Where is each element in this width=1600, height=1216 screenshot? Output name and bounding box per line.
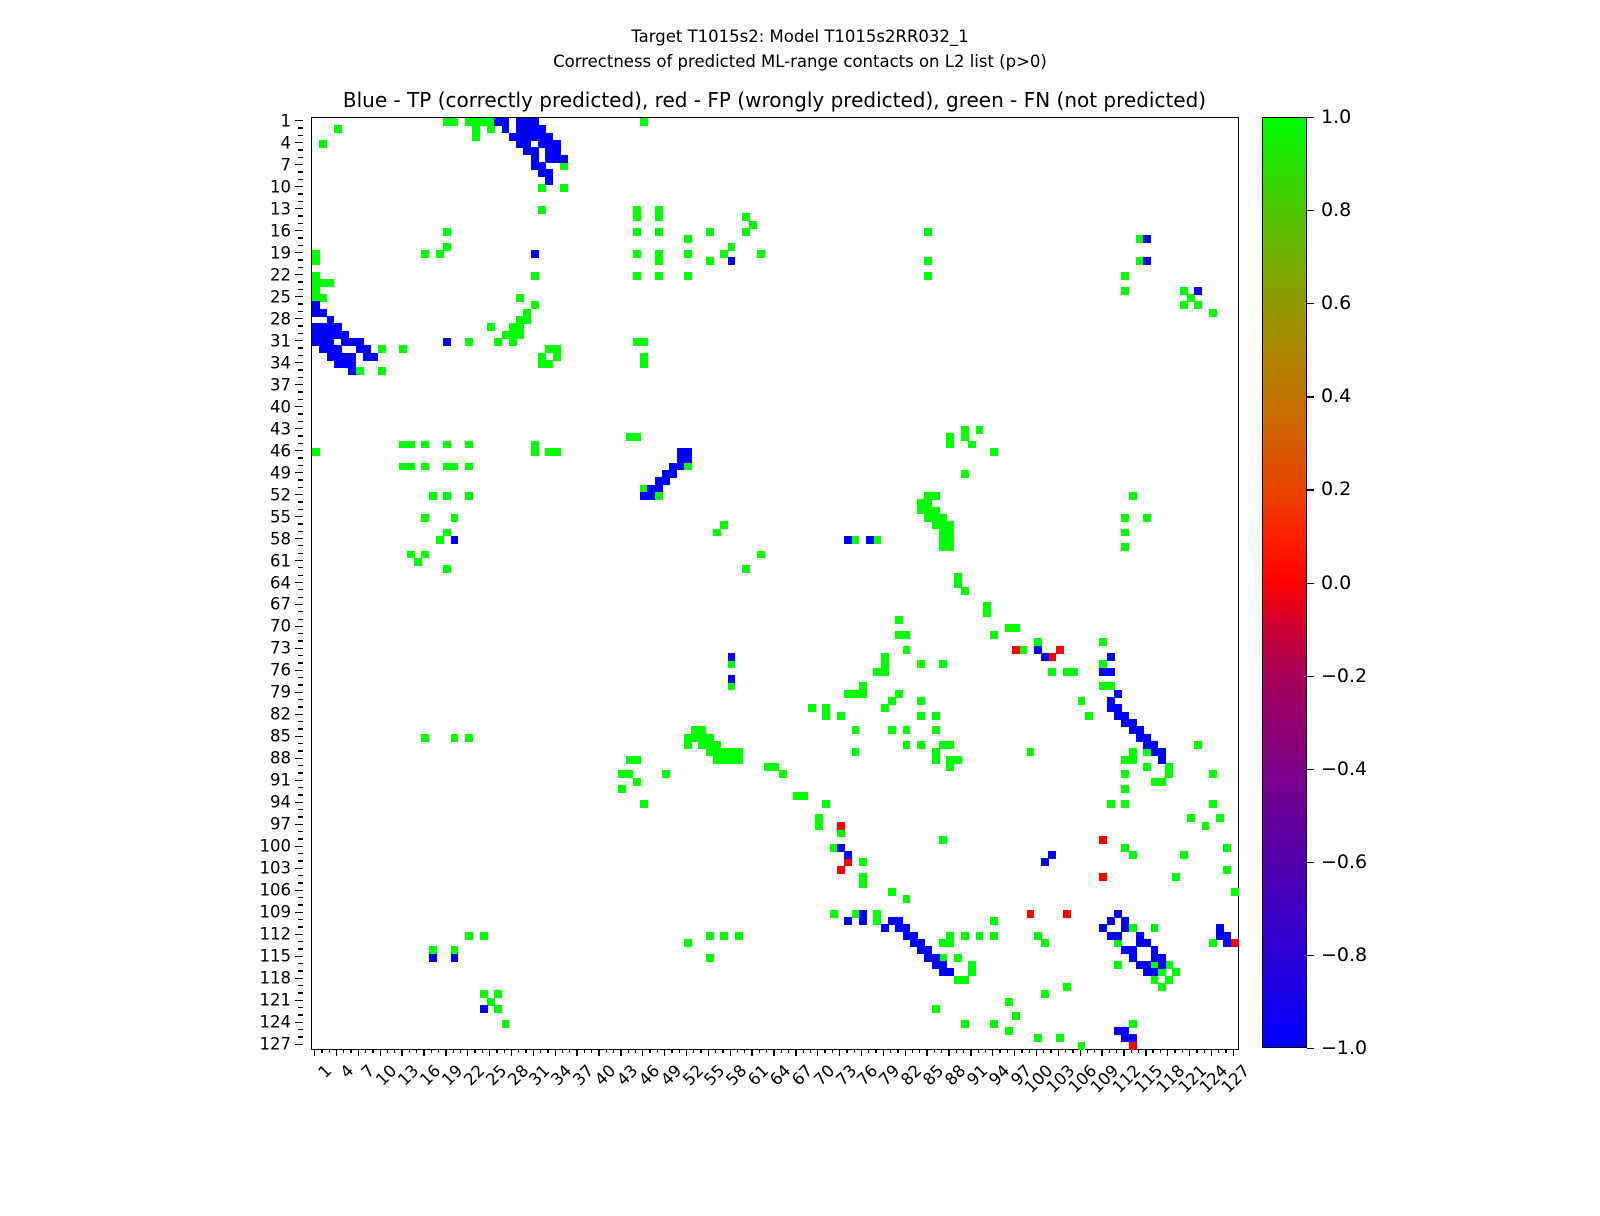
- y-tick: [295, 912, 303, 913]
- y-tick: [298, 1007, 303, 1008]
- y-tick-label: 52: [270, 485, 291, 504]
- y-tick-label: 76: [270, 661, 291, 680]
- contact-cell-fn: [1012, 1012, 1020, 1020]
- y-tick: [295, 626, 303, 627]
- y-tick-label: 43: [270, 419, 291, 438]
- contact-cell-fn: [1070, 668, 1078, 676]
- contact-cell-fn: [1187, 814, 1195, 822]
- contact-cell-fn: [895, 616, 903, 624]
- y-tick-label: 10: [270, 177, 291, 196]
- colorbar-tick-label: 0.4: [1321, 385, 1351, 407]
- contact-cell-fn: [465, 734, 473, 742]
- y-tick: [295, 890, 303, 891]
- contact-cell-fn: [757, 250, 765, 258]
- contact-cell-fn: [932, 712, 940, 720]
- y-tick-label: 34: [270, 353, 291, 372]
- contact-cell-fn: [706, 932, 714, 940]
- contact-cell-fn: [1012, 624, 1020, 632]
- y-tick: [298, 619, 303, 620]
- contact-cell-fn: [531, 448, 539, 456]
- contact-cell-fn: [939, 741, 947, 749]
- contact-map-cells: [312, 118, 1238, 1049]
- colorbar-tick: [1307, 676, 1314, 677]
- contact-cell-fn: [538, 206, 546, 214]
- contact-cell-fn: [465, 338, 473, 346]
- y-tick: [295, 1022, 303, 1023]
- y-tick: [298, 919, 303, 920]
- y-tick-label: 25: [270, 287, 291, 306]
- y-tick-label: 103: [260, 859, 292, 878]
- contact-cell-tp: [859, 917, 867, 925]
- y-tick: [298, 179, 303, 180]
- contact-cell-fn: [443, 441, 451, 449]
- y-tick: [298, 611, 303, 612]
- contact-cell-fn: [859, 858, 867, 866]
- contact-cell-fn: [1121, 756, 1129, 764]
- colorbar-tick-label: −0.6: [1321, 851, 1367, 873]
- y-tick-label: 49: [270, 463, 291, 482]
- contact-cell-fn: [1129, 1020, 1137, 1028]
- y-tick: [298, 333, 303, 334]
- y-tick: [298, 259, 303, 260]
- y-tick: [295, 142, 303, 143]
- contact-cell-fn: [713, 529, 721, 537]
- contact-cell-fn: [655, 213, 663, 221]
- contact-cell-fn: [684, 741, 692, 749]
- contact-cell-fn: [961, 1020, 969, 1028]
- colorbar-tick: [1307, 769, 1314, 770]
- contact-cell-fn: [757, 551, 765, 559]
- contact-cell-fn: [560, 184, 568, 192]
- y-tick: [298, 728, 303, 729]
- y-tick-label: 64: [270, 573, 291, 592]
- contact-cell-fn: [815, 822, 823, 830]
- contact-cell-tp: [1107, 697, 1115, 705]
- y-tick-label: 94: [270, 793, 291, 812]
- colorbar-tick: [1307, 955, 1314, 956]
- y-tick: [298, 794, 303, 795]
- y-tick: [298, 860, 303, 861]
- y-tick: [298, 831, 303, 832]
- contact-cell-fn: [1048, 668, 1056, 676]
- contact-cell-tp: [844, 917, 852, 925]
- contact-cell-fn: [633, 228, 641, 236]
- contact-cell-fn: [399, 345, 407, 353]
- y-tick: [295, 450, 303, 451]
- contact-cell-tp: [1158, 756, 1166, 764]
- contact-cell-fn: [1194, 741, 1202, 749]
- y-tick: [298, 904, 303, 905]
- contact-cell-fn: [684, 250, 692, 258]
- y-tick: [295, 472, 303, 473]
- y-tick: [298, 303, 303, 304]
- contact-cell-fn: [1121, 529, 1129, 537]
- contact-cell-fn: [655, 272, 663, 280]
- contact-cell-fp: [1099, 836, 1107, 844]
- y-tick-label: 40: [270, 397, 291, 416]
- contact-cell-fn: [961, 470, 969, 478]
- contact-cell-tp: [1121, 924, 1129, 932]
- contact-cell-fn: [881, 668, 889, 676]
- y-tick: [295, 604, 303, 605]
- contact-cell-fn: [1056, 1034, 1064, 1042]
- y-tick: [298, 281, 303, 282]
- contact-cell-fn: [451, 734, 459, 742]
- y-tick: [298, 479, 303, 480]
- contact-cell-fn: [1165, 770, 1173, 778]
- contact-cell-tp: [1158, 961, 1166, 969]
- y-tick: [298, 1014, 303, 1015]
- contact-cell-fn: [924, 257, 932, 265]
- y-tick: [298, 171, 303, 172]
- contact-cell-fn: [903, 895, 911, 903]
- contact-cell-tp: [1099, 924, 1107, 932]
- contact-cell-fn: [633, 756, 641, 764]
- colorbar-tick-label: −0.4: [1321, 758, 1367, 780]
- contact-cell-fn: [932, 492, 940, 500]
- contact-cell-tp: [1216, 932, 1224, 940]
- y-tick: [298, 545, 303, 546]
- y-tick: [298, 684, 303, 685]
- y-tick-label: 121: [260, 991, 292, 1010]
- contact-cell-fn: [830, 910, 838, 918]
- y-tick-label: 13: [270, 199, 291, 218]
- y-tick: [295, 1000, 303, 1001]
- y-tick: [298, 809, 303, 810]
- y-tick: [295, 296, 303, 297]
- y-tick: [295, 560, 303, 561]
- contact-cell-fn: [516, 331, 524, 339]
- contact-cell-fn: [1194, 301, 1202, 309]
- contact-cell-fn: [684, 939, 692, 947]
- contact-cell-fn: [1209, 770, 1217, 778]
- contact-cell-fn: [1143, 514, 1151, 522]
- y-tick: [298, 413, 303, 414]
- contact-cell-tp: [443, 338, 451, 346]
- colorbar-gradient: [1262, 117, 1307, 1048]
- contact-cell-fn: [1041, 939, 1049, 947]
- contact-cell-tp: [1041, 858, 1049, 866]
- y-tick: [298, 699, 303, 700]
- contact-cell-fn: [728, 660, 736, 668]
- y-tick: [298, 765, 303, 766]
- y-tick: [295, 758, 303, 759]
- y-tick-label: 85: [270, 727, 291, 746]
- y-tick: [298, 391, 303, 392]
- contact-cell-fn: [888, 888, 896, 896]
- contact-cell-fn: [414, 558, 422, 566]
- contact-cell-fn: [1027, 748, 1035, 756]
- contact-cell-fp: [1063, 910, 1071, 918]
- y-tick: [295, 252, 303, 253]
- contact-cell-tp: [844, 536, 852, 544]
- contact-cell-fn: [961, 587, 969, 595]
- contact-cell-fn: [742, 228, 750, 236]
- contact-cell-fn: [312, 257, 320, 265]
- y-tick: [298, 743, 303, 744]
- contact-cell-tp: [1107, 668, 1115, 676]
- contact-cell-fn: [1158, 778, 1166, 786]
- contact-cell-tp: [881, 924, 889, 932]
- contact-cell-fn: [655, 257, 663, 265]
- contact-cell-fn: [407, 463, 415, 471]
- contact-cell-fn: [837, 829, 845, 837]
- y-tick: [295, 868, 303, 869]
- contact-cell-fn: [946, 741, 954, 749]
- y-tick-label: 118: [260, 969, 292, 988]
- contact-cell-fn: [327, 279, 335, 287]
- colorbar-tick-label: −1.0: [1321, 1037, 1367, 1059]
- contact-cell-fn: [640, 360, 648, 368]
- contact-cell-tp: [684, 455, 692, 463]
- y-tick: [295, 208, 303, 209]
- contact-cell-fn: [924, 272, 932, 280]
- contact-cell-fn: [859, 873, 867, 881]
- contact-cell-fn: [990, 932, 998, 940]
- contact-cell-fn: [509, 338, 517, 346]
- contact-cell-fn: [961, 976, 969, 984]
- y-tick-label: 97: [270, 815, 291, 834]
- y-tick: [298, 750, 303, 751]
- contact-cell-fn: [946, 543, 954, 551]
- contact-cell-fp: [1012, 646, 1020, 654]
- contact-cell-fn: [1129, 851, 1137, 859]
- colorbar-tick: [1307, 210, 1314, 211]
- y-tick: [298, 193, 303, 194]
- y-tick: [295, 846, 303, 847]
- contact-cell-fn: [560, 162, 568, 170]
- contact-cell-fn: [1121, 770, 1129, 778]
- contact-cell-fn: [334, 125, 342, 133]
- contact-cell-tp: [531, 250, 539, 258]
- contact-cell-fn: [494, 990, 502, 998]
- contact-cell-fn: [312, 448, 320, 456]
- y-tick: [295, 802, 303, 803]
- contact-cell-fn: [553, 353, 561, 361]
- contact-cell-tp: [1048, 851, 1056, 859]
- y-tick: [295, 714, 303, 715]
- y-tick: [298, 655, 303, 656]
- contact-cell-fn: [939, 836, 947, 844]
- contact-cell-tp: [545, 177, 553, 185]
- contact-cell-fn: [1121, 287, 1129, 295]
- contact-cell-fn: [472, 133, 480, 141]
- contact-cell-fn: [801, 792, 809, 800]
- y-tick: [298, 575, 303, 576]
- contact-cell-fn: [932, 748, 940, 756]
- contact-cell-fn: [655, 492, 663, 500]
- contact-cell-fn: [1172, 873, 1180, 881]
- contact-cell-fn: [421, 551, 429, 559]
- contact-map-plot[interactable]: [311, 117, 1239, 1050]
- colorbar-tick: [1307, 396, 1314, 397]
- y-tick: [298, 787, 303, 788]
- contact-cell-tp: [1129, 1034, 1137, 1042]
- contact-cell-tp: [888, 917, 896, 925]
- contact-cell-fn: [749, 221, 757, 229]
- y-tick: [298, 853, 303, 854]
- y-tick: [295, 230, 303, 231]
- contact-cell-tp: [728, 257, 736, 265]
- contact-cell-fn: [1078, 1042, 1086, 1050]
- y-tick: [298, 662, 303, 663]
- contact-cell-fn: [407, 441, 415, 449]
- y-tick: [298, 941, 303, 942]
- contact-cell-fn: [633, 213, 641, 221]
- contact-cell-fn: [1019, 646, 1027, 654]
- contact-cell-fn: [1216, 814, 1224, 822]
- contact-cell-fn: [837, 712, 845, 720]
- contact-cell-fn: [640, 118, 648, 126]
- y-tick: [298, 589, 303, 590]
- contact-cell-fp: [1231, 939, 1239, 947]
- contact-cell-tp: [1129, 946, 1137, 954]
- contact-cell-fn: [545, 360, 553, 368]
- contact-cell-fn: [917, 712, 925, 720]
- contact-cell-fn: [640, 800, 648, 808]
- contact-cell-fn: [895, 690, 903, 698]
- y-tick-label: 127: [260, 1035, 292, 1054]
- contact-cell-fn: [1209, 800, 1217, 808]
- y-tick: [298, 677, 303, 678]
- y-tick: [298, 435, 303, 436]
- contact-cell-fn: [633, 778, 641, 786]
- contact-cell-fn: [1063, 983, 1071, 991]
- y-tick: [298, 875, 303, 876]
- y-tick: [295, 516, 303, 517]
- y-tick: [298, 399, 303, 400]
- y-tick: [298, 597, 303, 598]
- contact-cell-fn: [633, 433, 641, 441]
- y-tick: [298, 457, 303, 458]
- y-tick-label: 91: [270, 771, 291, 790]
- contact-cell-tp: [1194, 287, 1202, 295]
- contact-cell-fp: [837, 822, 845, 830]
- contact-cell-fn: [436, 536, 444, 544]
- contact-cell-tp: [1114, 690, 1122, 698]
- contact-cell-fn: [407, 551, 415, 559]
- contact-cell-fn: [465, 463, 473, 471]
- contact-cell-fn: [939, 660, 947, 668]
- y-tick-label: 106: [260, 881, 292, 900]
- colorbar-tick: [1307, 117, 1314, 118]
- contact-cell-fn: [1121, 514, 1129, 522]
- contact-cell-fn: [735, 756, 743, 764]
- y-tick: [298, 347, 303, 348]
- contact-cell-fn: [1085, 712, 1093, 720]
- y-tick: [295, 428, 303, 429]
- contact-cell-fn: [881, 704, 889, 712]
- colorbar-tick: [1307, 303, 1314, 304]
- y-tick-label: 67: [270, 595, 291, 614]
- contact-cell-fn: [932, 1005, 940, 1013]
- contact-cell-fn: [494, 1005, 502, 1013]
- contact-cell-fn: [990, 631, 998, 639]
- contact-cell-fn: [1231, 888, 1239, 896]
- contact-cell-fn: [633, 250, 641, 258]
- contact-cell-tp: [1114, 910, 1122, 918]
- y-tick: [295, 494, 303, 495]
- contact-cell-fn: [990, 917, 998, 925]
- contact-cell-fn: [1172, 968, 1180, 976]
- y-tick: [298, 127, 303, 128]
- contact-cell-fn: [523, 316, 531, 324]
- contact-cell-fp: [1056, 646, 1064, 654]
- contact-cell-fn: [779, 770, 787, 778]
- y-tick-label: 109: [260, 903, 292, 922]
- y-tick: [298, 501, 303, 502]
- contact-cell-fn: [903, 741, 911, 749]
- contact-cell-fn: [465, 441, 473, 449]
- y-tick: [298, 882, 303, 883]
- contact-cell-tp: [1136, 939, 1144, 947]
- y-tick: [298, 201, 303, 202]
- contact-cell-fn: [378, 367, 386, 375]
- contact-cell-tp: [370, 353, 378, 361]
- contact-cell-fn: [954, 756, 962, 764]
- colorbar-tick-label: −0.2: [1321, 665, 1367, 687]
- y-tick: [298, 215, 303, 216]
- y-tick: [295, 318, 303, 319]
- y-tick: [298, 245, 303, 246]
- y-tick-label: 79: [270, 683, 291, 702]
- contact-cell-tp: [728, 675, 736, 683]
- colorbar-ticks: 1.00.80.60.40.20.0−0.2−0.4−0.6−0.8−1.0: [1307, 117, 1427, 1048]
- contact-cell-fp: [837, 866, 845, 874]
- contact-cell-fn: [976, 932, 984, 940]
- contact-cell-fn: [946, 763, 954, 771]
- y-tick-label: 4: [281, 133, 292, 152]
- y-tick: [298, 355, 303, 356]
- contact-cell-fn: [888, 697, 896, 705]
- contact-cell-fn: [1121, 785, 1129, 793]
- contact-cell-fn: [443, 492, 451, 500]
- y-tick: [298, 509, 303, 510]
- contact-cell-fn: [720, 521, 728, 529]
- colorbar-tick-label: −0.8: [1321, 944, 1367, 966]
- contact-cell-fn: [852, 536, 860, 544]
- contact-cell-fp: [1099, 873, 1107, 881]
- y-tick: [298, 377, 303, 378]
- contact-cell-fn: [1129, 492, 1137, 500]
- contact-cell-fn: [961, 932, 969, 940]
- contact-cell-fn: [451, 514, 459, 522]
- contact-cell-fn: [1180, 851, 1188, 859]
- contact-cell-tp: [560, 155, 568, 163]
- y-tick-label: 100: [260, 837, 292, 856]
- contact-cell-fn: [968, 961, 976, 969]
- figure-suptitle: Target T1015s2: Model T1015s2RR032_1 Cor…: [0, 24, 1600, 74]
- contact-cell-tp: [1107, 917, 1115, 925]
- y-tick: [295, 824, 303, 825]
- y-tick: [298, 443, 303, 444]
- y-tick: [298, 421, 303, 422]
- contact-cell-fp: [1048, 653, 1056, 661]
- contact-cell-fn: [1099, 638, 1107, 646]
- contact-cell-fn: [502, 1020, 510, 1028]
- y-tick-label: 37: [270, 375, 291, 394]
- y-tick-label: 61: [270, 551, 291, 570]
- colorbar-tick: [1307, 1048, 1314, 1049]
- contact-cell-fn: [968, 968, 976, 976]
- y-tick: [295, 780, 303, 781]
- colorbar-tick: [1307, 583, 1314, 584]
- contact-cell-fp: [844, 858, 852, 866]
- contact-cell-fn: [451, 118, 459, 126]
- contact-cell-fn: [378, 345, 386, 353]
- contact-cell-fn: [946, 932, 954, 940]
- y-tick: [298, 523, 303, 524]
